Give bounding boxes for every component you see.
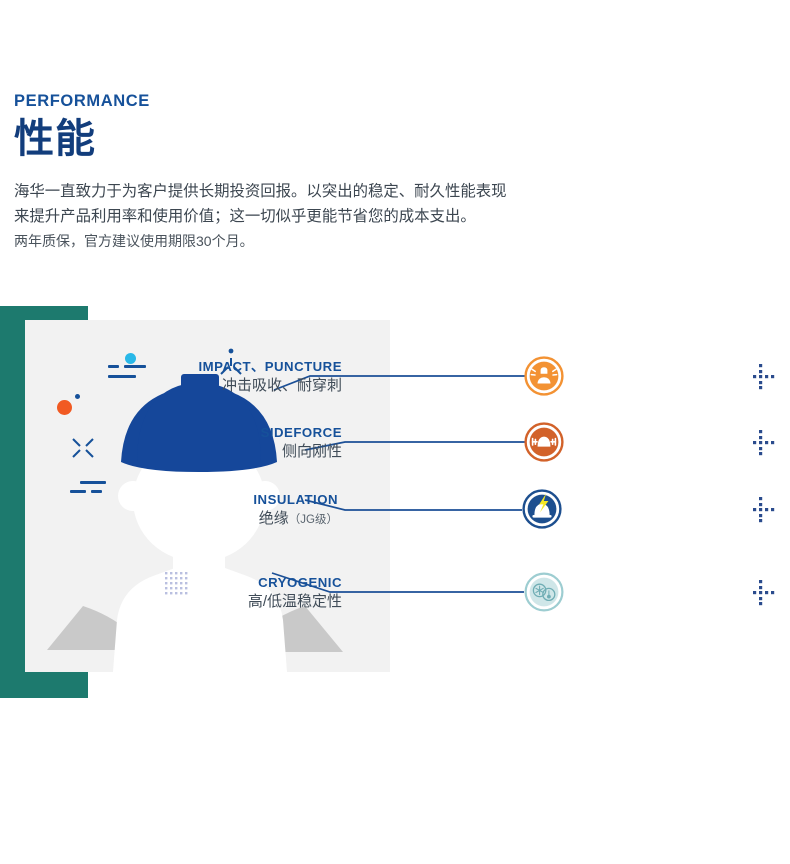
feature-text-impact: IMPACT、PUNCTURE 冲击吸收、耐穿刺	[152, 358, 342, 396]
dash-decoration-1	[108, 365, 119, 368]
feature-text-cryogenic: CRYOGENIC 高/低温稳定性	[152, 574, 342, 612]
header-block: PERFORMANCE 性能 海华一直致力于为客户提供长期投资回报。以突出的稳定…	[14, 92, 634, 253]
sparkle-decoration-left	[70, 435, 96, 461]
feature-title-en: IMPACT、PUNCTURE	[152, 358, 342, 375]
feature-title-cn: 高/低温稳定性	[152, 592, 342, 612]
feature-text-sideforce: SIDEFORCE 侧向刚性	[152, 424, 342, 462]
cyan-dot-decoration	[125, 353, 136, 364]
feature-title-en: INSULATION	[148, 491, 338, 508]
dash-decoration-5	[80, 481, 106, 484]
feature-row-impact[interactable]: IMPACT、PUNCTURE 冲击吸收、耐穿刺	[524, 356, 564, 396]
feature-cn-main: 绝缘	[259, 510, 289, 527]
insulation-icon	[522, 489, 562, 529]
dot-arrow-decoration	[746, 361, 776, 391]
page-title: 性能	[14, 116, 634, 162]
feature-row-insulation[interactable]: INSULATION 绝缘（JG级）	[522, 489, 562, 529]
dash-decoration-2	[124, 365, 146, 368]
small-blue-dot-decoration	[75, 394, 80, 399]
dash-decoration-3	[108, 375, 136, 378]
description-line-3: 两年质保，官方建议使用期限30个月。	[14, 230, 634, 253]
orange-dot-decoration	[57, 400, 72, 415]
cryogenic-icon	[524, 572, 564, 612]
feature-title-en: SIDEFORCE	[152, 424, 342, 441]
description-line-2: 来提升产品利用率和使用价值；这一切似乎更能节省您的成本支出。	[14, 205, 634, 230]
dot-arrow-decoration	[746, 494, 776, 524]
feature-title-en: CRYOGENIC	[152, 574, 342, 591]
dot-arrow-decoration	[746, 427, 776, 457]
feature-row-sideforce[interactable]: SIDEFORCE 侧向刚性	[524, 422, 564, 462]
feature-row-cryogenic[interactable]: CRYOGENIC 高/低温稳定性	[524, 572, 564, 612]
description-line-1: 海华一直致力于为客户提供长期投资回报。以突出的稳定、耐久性能表现	[14, 180, 634, 205]
feature-title-cn: 冲击吸收、耐穿刺	[152, 376, 342, 396]
feature-title-cn: 绝缘（JG级）	[148, 509, 338, 529]
feature-title-cn: 侧向刚性	[152, 442, 342, 462]
eyebrow-label: PERFORMANCE	[14, 92, 634, 110]
dot-arrow-decoration	[746, 577, 776, 607]
feature-cn-note: （JG级）	[289, 514, 338, 526]
feature-text-insulation: INSULATION 绝缘（JG级）	[148, 491, 338, 529]
sideforce-icon	[524, 422, 564, 462]
impact-puncture-icon	[524, 356, 564, 396]
dash-decoration-6	[91, 490, 102, 493]
dash-decoration-4	[70, 490, 86, 493]
